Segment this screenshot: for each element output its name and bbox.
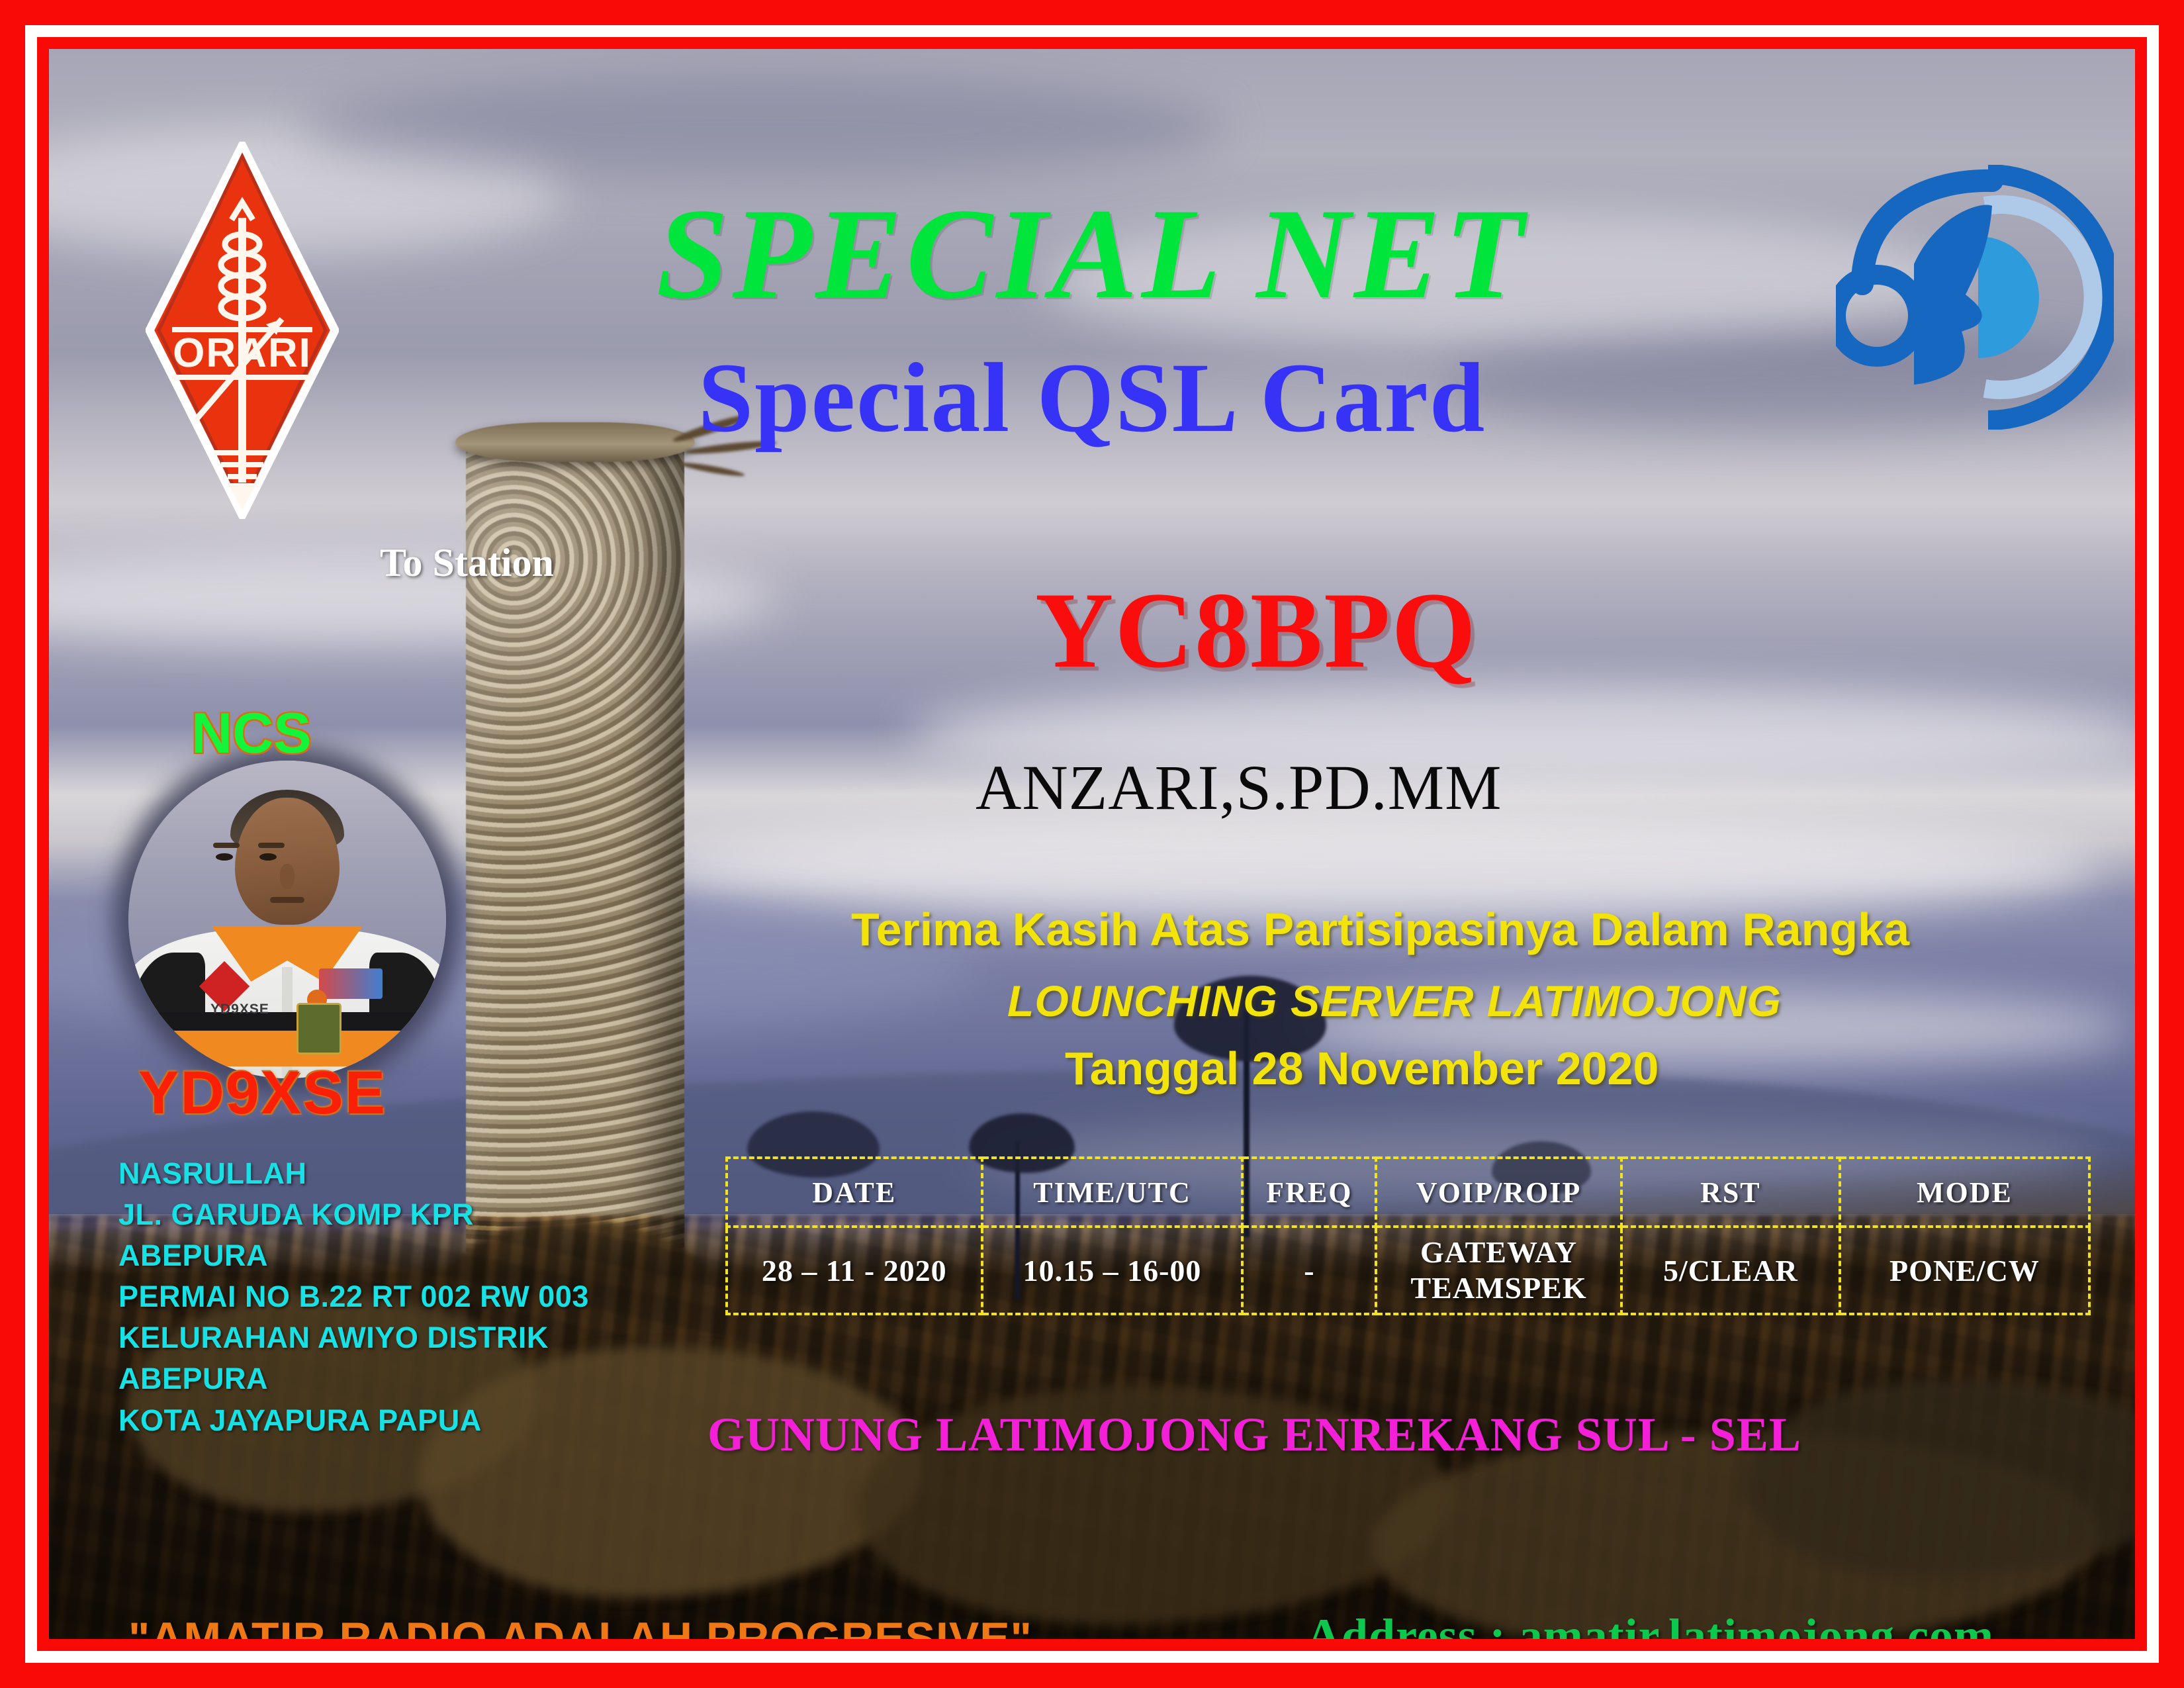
address-line: NASRULLAH (118, 1153, 621, 1194)
thanks-line-3: Tanggal 28 November 2020 (1065, 1042, 1659, 1095)
shirt-callsign-text: YD9XSE (210, 1002, 269, 1017)
page-title: SPECIAL NET (49, 189, 2135, 319)
cell-mode: PONE/CW (1840, 1227, 2089, 1314)
column-header-mode: MODE (1840, 1158, 2089, 1227)
location-line: GUNUNG LATIMOJONG ENREKANG SUL - SEL (707, 1407, 1801, 1462)
column-header-date: DATE (727, 1158, 982, 1227)
page-subtitle: Special QSL Card (49, 348, 2135, 447)
motto-text: "AMATIR RADIO ADALAH PROGRESIVE" (128, 1613, 1032, 1639)
cell-voip-roip: GATEWAY TEAMSPEK (1376, 1227, 1621, 1314)
to-station-label: To Station (380, 540, 554, 586)
qsl-card: ORARI (0, 0, 2184, 1688)
cloud-streak (300, 75, 1227, 181)
ncs-callsign: YD9XSE (138, 1058, 387, 1128)
cell-voip-roip-line1: GATEWAY (1377, 1235, 1620, 1270)
column-header-freq: FREQ (1242, 1158, 1376, 1227)
address-line: KOTA JAYAPURA PAPUA (118, 1400, 621, 1441)
address-line: PERMAI NO B.22 RT 002 RW 003 (118, 1276, 621, 1317)
address-line: JL. GARUDA KOMP KPR (118, 1194, 621, 1235)
card-background-photo: ORARI (49, 49, 2135, 1639)
ncs-label: NCS (191, 701, 312, 767)
web-address-text: Address : amatir.latimojong.com (1306, 1609, 1994, 1639)
cell-voip-roip-line2: TEAMSPEK (1377, 1270, 1620, 1306)
qso-details-table: DATE TIME/UTC FREQ VOIP/ROIP RST MODE 28… (725, 1156, 2091, 1315)
sender-address-block: NASRULLAH JL. GARUDA KOMP KPR ABEPURA PE… (118, 1153, 621, 1441)
column-header-time: TIME/UTC (982, 1158, 1243, 1227)
cell-freq: - (1242, 1227, 1376, 1314)
ncs-operator-photo: YD9XSE (128, 761, 446, 1078)
address-line: KELURAHAN AWIYO DISTRIK (118, 1317, 621, 1358)
table-row: 28 – 11 - 2020 10.15 – 16-00 - GATEWAY T… (727, 1227, 2089, 1314)
cell-time: 10.15 – 16-00 (982, 1227, 1243, 1314)
address-line: ABEPURA (118, 1358, 621, 1399)
cell-rst: 5/CLEAR (1621, 1227, 1840, 1314)
operator-name: ANZARI,S.PD.MM (976, 751, 1502, 824)
address-line: ABEPURA (118, 1235, 621, 1276)
thanks-line-2: LOUNCHING SERVER LATIMOJONG (1007, 976, 1782, 1026)
recipient-callsign: YC8BPQ (1035, 569, 1477, 693)
column-header-voip-roip: VOIP/ROIP (1376, 1158, 1621, 1227)
thanks-line-1: Terima Kasih Atas Partisipasinya Dalam R… (851, 903, 1909, 956)
column-header-rst: RST (1621, 1158, 1840, 1227)
cell-date: 28 – 11 - 2020 (727, 1227, 982, 1314)
table-header-row: DATE TIME/UTC FREQ VOIP/ROIP RST MODE (727, 1158, 2089, 1227)
